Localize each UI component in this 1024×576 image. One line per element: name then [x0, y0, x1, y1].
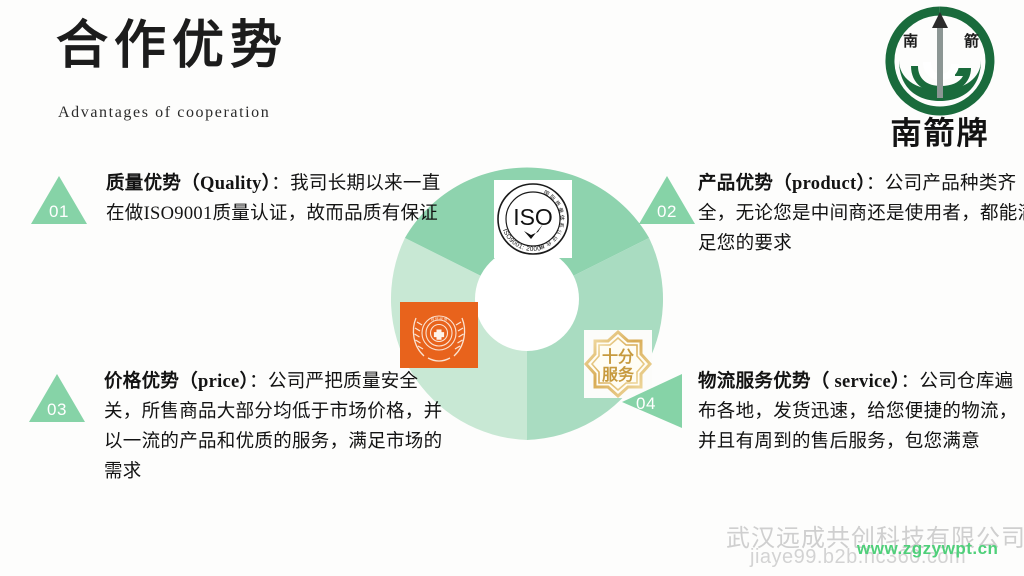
- feature-number-01: 01: [30, 202, 88, 222]
- feature-number-02: 02: [638, 202, 696, 222]
- arrow-emblem-icon: 南 箭: [881, 4, 999, 116]
- feature-separator-04: ：: [901, 372, 920, 392]
- service-badge-line1: 十分: [602, 347, 634, 366]
- page-title: 合作优势: [56, 14, 288, 79]
- brand-logo: 南 箭 南箭牌: [872, 4, 1008, 164]
- honor-seal-badge: 诚 信 经 营: [400, 302, 478, 368]
- slide-canvas: 合作优势 Advantages of cooperation 南 箭 南箭牌: [0, 0, 1024, 576]
- feature-text-01: 质量优势（Quality）：我司长期以来一直在做ISO9001质量认证，故而品质…: [106, 170, 456, 230]
- donut-center-hole: [475, 247, 579, 351]
- number-triangle-03: 03: [28, 372, 86, 424]
- feature-number-04: 04: [614, 394, 678, 414]
- emblem-right-char: 箭: [964, 30, 979, 51]
- watermark-site: www.zgzywpt.cn: [857, 539, 998, 559]
- emblem-left-char: 南: [903, 30, 918, 51]
- feature-separator-01: ：: [271, 174, 290, 194]
- number-triangle-01: 01: [30, 174, 88, 226]
- iso-certification-badge: 国 际 质 量 体 系 认 证 合 格 ISO9001: 2000 ISO: [494, 180, 572, 258]
- feature-heading-01: 质量优势（Quality）: [106, 174, 271, 194]
- number-triangle-02: 02: [638, 174, 696, 226]
- feature-separator-03: ：: [249, 372, 268, 392]
- feature-heading-04: 物流服务优势（ service）: [698, 372, 901, 392]
- iso-center-text: ISO: [513, 204, 553, 230]
- feature-text-02: 产品优势（product）：公司产品种类齐全，无论您是中间商还是使用者，都能满足…: [698, 170, 1024, 260]
- svg-text:诚 信 经 营: 诚 信 经 营: [430, 316, 447, 321]
- page-subtitle: Advantages of cooperation: [58, 104, 270, 122]
- feature-text-04: 物流服务优势（ service）：公司仓库遍布各地，发货迅速，给您便捷的物流，并…: [698, 368, 1024, 458]
- brand-name: 南箭牌: [872, 118, 1008, 149]
- feature-text-03: 价格优势（price）：公司严把质量安全关，所售商品大部分均低于市场价格，并以一…: [104, 368, 454, 488]
- feature-separator-02: ：: [866, 174, 885, 194]
- number-triangle-04: 04: [620, 372, 678, 424]
- feature-heading-02: 产品优势（product）: [698, 174, 866, 194]
- feature-heading-03: 价格优势（price）: [104, 372, 249, 392]
- feature-number-03: 03: [28, 400, 86, 420]
